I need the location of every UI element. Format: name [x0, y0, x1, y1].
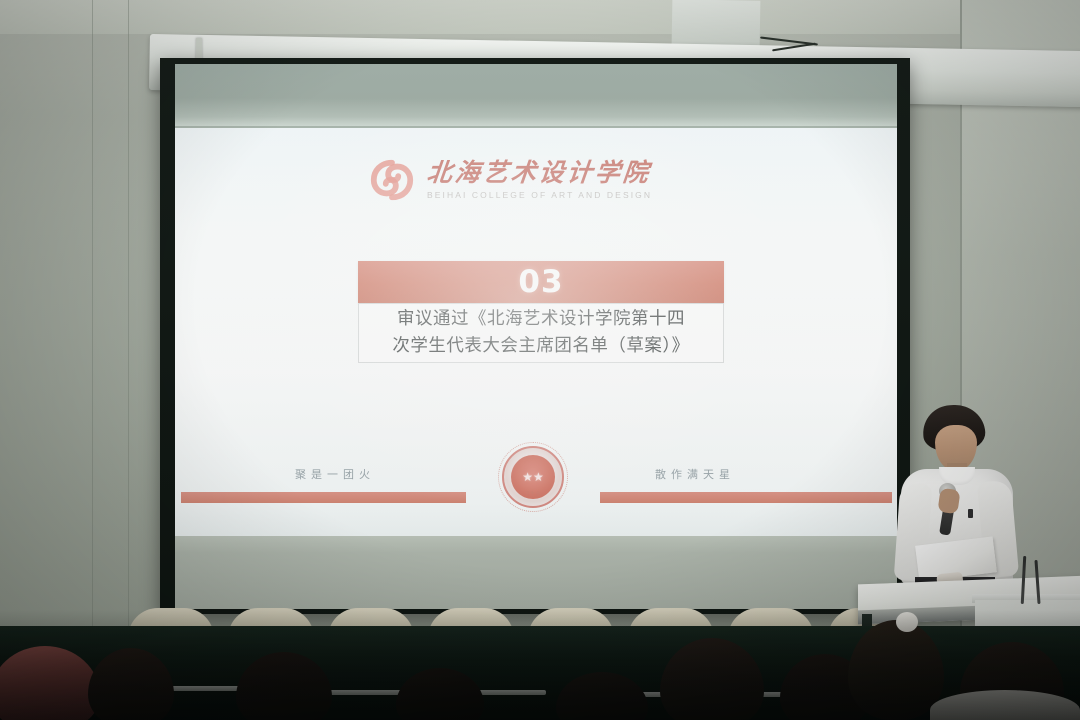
slide-title-line-1: 审议通过《北海艺术设计学院第十四 [397, 306, 685, 333]
projected-slide: 北海艺术设计学院 BEIHAI COLLEGE OF ART AND DESIG… [175, 128, 897, 536]
slide-title-box: 审议通过《北海艺术设计学院第十四 次学生代表大会主席团名单（草案）》 [358, 303, 724, 363]
ceiling-pipe-stub [672, 0, 761, 47]
hair-clip-icon [896, 612, 918, 632]
footer-bar-left [181, 492, 466, 503]
screen-surface: 北海艺术设计学院 BEIHAI COLLEGE OF ART AND DESIG… [175, 64, 897, 609]
emblem-caption: 学生会 [511, 491, 555, 497]
student-union-emblem-icon: ★★ 学生会 [502, 446, 564, 508]
footer-bar-right [600, 492, 892, 503]
slogan-right: 散作满天星 [655, 466, 735, 482]
screen-idle-top-band [175, 64, 897, 126]
slogan-left: 聚是一团火 [295, 466, 375, 482]
section-number: 03 [518, 264, 563, 300]
logo-name-cn: 北海艺术设计学院 [426, 160, 654, 186]
screen-idle-bottom-band [175, 529, 897, 609]
auditorium-photo-scene: 北海艺术设计学院 BEIHAI COLLEGE OF ART AND DESIG… [0, 0, 1080, 720]
logo-name-en: BEIHAI COLLEGE OF ART AND DESIGN [427, 190, 652, 200]
emblem-stars: ★★ [522, 471, 544, 483]
logo-text-block: 北海艺术设计学院 BEIHAI COLLEGE OF ART AND DESIG… [427, 160, 652, 199]
projection-screen: 北海艺术设计学院 BEIHAI COLLEGE OF ART AND DESIG… [160, 58, 910, 614]
wall-seam [128, 0, 129, 640]
wall-seam [92, 0, 93, 640]
presenter-badge [968, 509, 973, 518]
slide-title-line-2: 次学生代表大会主席团名单（草案）》 [392, 333, 689, 360]
emblem-inner: ★★ 学生会 [511, 455, 555, 499]
section-number-banner: 03 [358, 261, 724, 303]
spiral-logo-icon [367, 156, 417, 204]
slide-logo: 北海艺术设计学院 BEIHAI COLLEGE OF ART AND DESIG… [367, 150, 717, 210]
wall-upper-band [0, 0, 1080, 34]
